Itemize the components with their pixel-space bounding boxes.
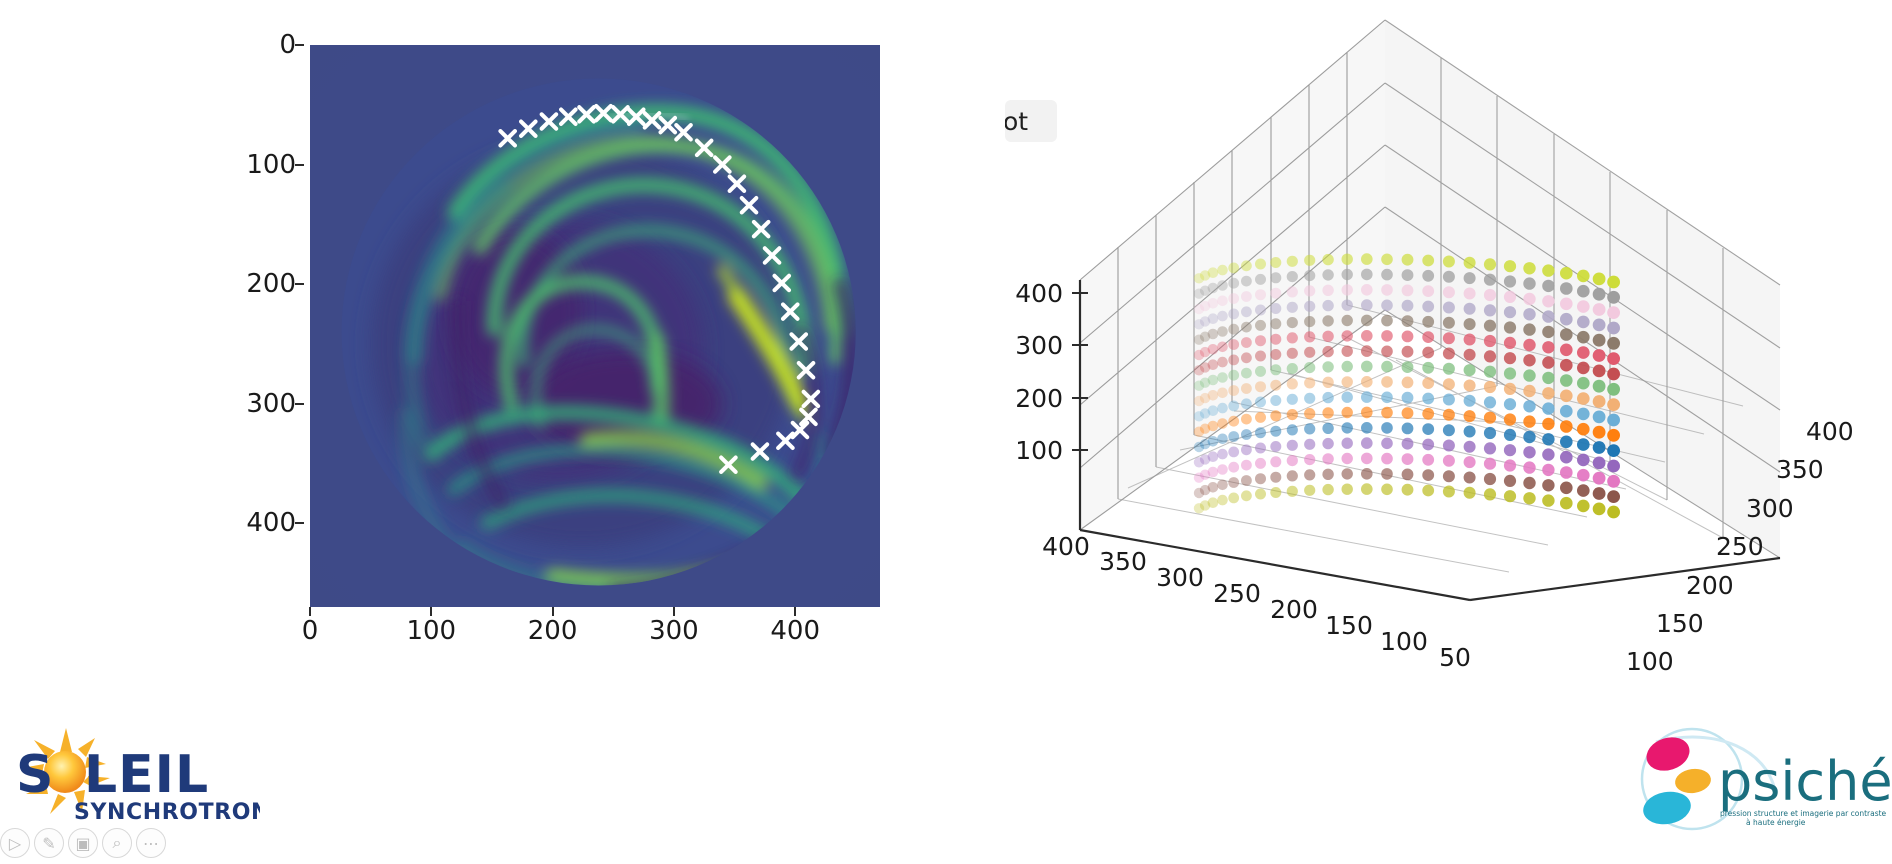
- scatter-point: [1607, 429, 1620, 442]
- scatter-point: [1523, 262, 1535, 274]
- scatter-point: [1577, 300, 1590, 313]
- scatter-point: [1255, 381, 1266, 392]
- scatter-point: [1228, 324, 1239, 335]
- scatter-point: [1523, 446, 1535, 458]
- scatter-point: [1560, 298, 1573, 311]
- z-tick-label-200: 200: [1015, 384, 1063, 413]
- scatter-point: [1484, 274, 1496, 286]
- x-tick-label-400: 400: [750, 616, 840, 646]
- scatter-point: [1542, 387, 1554, 399]
- scatter-point: [1577, 316, 1590, 329]
- scatter-point: [1593, 319, 1606, 332]
- scatter-point: [1255, 320, 1266, 331]
- y-tickmark: [295, 403, 304, 405]
- scatter-point: [1577, 346, 1590, 359]
- scatter-point: [1422, 255, 1434, 267]
- scatter-point: [1381, 346, 1393, 358]
- scatter-point: [1523, 323, 1535, 335]
- scatter-point: [1241, 291, 1252, 302]
- scatter-point: [1577, 454, 1590, 467]
- scatter-point: [1322, 269, 1333, 280]
- scatter-point: [1270, 472, 1281, 483]
- tomographic-slice-image: [310, 45, 880, 607]
- scatter-point: [1443, 363, 1455, 375]
- scatter-point: [1542, 326, 1554, 338]
- y3d-tick-label-300: 300: [1746, 494, 1794, 523]
- scatter-point: [1255, 458, 1266, 469]
- scatter-point: [1464, 334, 1476, 346]
- search-icon[interactable]: ⌕: [102, 828, 132, 858]
- scatter-point: [1523, 400, 1535, 412]
- scatter-point: [1607, 414, 1620, 427]
- scatter-point: [1577, 331, 1590, 344]
- scatter-point: [1560, 482, 1573, 495]
- scatter-point: [1504, 475, 1516, 487]
- scatter-point: [1542, 479, 1554, 491]
- scatter-point: [1607, 444, 1620, 457]
- scatter-point: [1322, 392, 1333, 403]
- scatter-point: [1342, 376, 1353, 387]
- scatter-point: [1287, 455, 1298, 466]
- scatter-point: [1443, 409, 1455, 421]
- z-tick-label-300: 300: [1015, 331, 1063, 360]
- soleil-subtitle: SYNCHROTRON: [74, 800, 260, 825]
- scatter-point: [1217, 449, 1228, 460]
- scatter-point: [1342, 346, 1353, 357]
- scatter-point: [1361, 422, 1373, 434]
- y-tick-label-100: 100: [206, 150, 296, 180]
- scatter-point: [1523, 369, 1535, 381]
- scatter-point: [1523, 277, 1535, 289]
- scatter-point: [1577, 500, 1590, 513]
- scatter-point: [1255, 397, 1266, 408]
- scatter-point: [1217, 388, 1228, 399]
- scatter-point: [1361, 253, 1373, 265]
- scatter-point: [1443, 256, 1455, 268]
- scatter-point: [1228, 477, 1239, 488]
- psiche-tagline-line2: à haute énergie: [1746, 818, 1806, 827]
- scatter-point: [1523, 415, 1535, 427]
- scatter-point: [1593, 457, 1606, 470]
- scatter-point: [1523, 477, 1535, 489]
- scatter-point: [1484, 396, 1496, 408]
- scatter-point: [1208, 344, 1219, 355]
- psiche-cyan-blob-icon: [1641, 788, 1694, 828]
- y3d-tick-label-350: 350: [1776, 455, 1824, 484]
- scatter-point: [1484, 335, 1496, 347]
- y-tick-label-400: 400: [206, 508, 296, 538]
- scatter-point: [1304, 439, 1315, 450]
- scatter-point: [1217, 418, 1228, 429]
- scatter-point: [1607, 475, 1620, 488]
- scatter-point: [1542, 448, 1554, 460]
- scatter-point: [1484, 304, 1496, 316]
- scatter-point: [1322, 315, 1333, 326]
- scatter-point: [1208, 298, 1219, 309]
- scatter-point: [1422, 347, 1434, 359]
- scatter-point: [1464, 456, 1476, 468]
- scatter-point: [1484, 442, 1496, 454]
- scatter-point: [1208, 421, 1219, 432]
- scatter-point: [1464, 487, 1476, 499]
- scatter-point: [1381, 438, 1393, 450]
- scatter-point: [1217, 311, 1228, 322]
- scatter-point: [1361, 468, 1373, 480]
- scatter-point: [1542, 433, 1554, 445]
- scatter-point: [1422, 270, 1434, 282]
- scatter-point: [1443, 486, 1455, 498]
- scatter-point: [1577, 423, 1590, 436]
- scatter-point: [1484, 366, 1496, 378]
- scatter-point: [1607, 368, 1620, 381]
- scatter-point: [1560, 497, 1573, 510]
- scatter-point: [1443, 394, 1455, 406]
- scatter-point: [1577, 484, 1590, 497]
- y-tickmark: [295, 44, 304, 46]
- scatter-point: [1504, 429, 1516, 441]
- scatter-point: [1504, 398, 1516, 410]
- play-icon[interactable]: ▷: [0, 828, 30, 858]
- scatter-point: [1484, 488, 1496, 500]
- scatter-point: [1322, 484, 1333, 495]
- scatter-point: [1255, 412, 1266, 423]
- scatter-point: [1255, 289, 1266, 300]
- scatter-point: [1464, 472, 1476, 484]
- y-tick-label-0: 0: [206, 30, 296, 60]
- scatter-point: [1255, 351, 1266, 362]
- scatter-point: [1484, 412, 1496, 424]
- scatter-point: [1402, 300, 1414, 312]
- scatter-point: [1560, 436, 1573, 449]
- scatter-point: [1270, 426, 1281, 437]
- scatter-point: [1422, 301, 1434, 313]
- scatter-point: [1208, 497, 1219, 508]
- scatter-point: [1607, 291, 1620, 304]
- scatter-point: [1422, 408, 1434, 420]
- scatter-point: [1464, 349, 1476, 361]
- scatter-point: [1217, 357, 1228, 368]
- scatter-point: [1381, 269, 1393, 281]
- scatter-point: [1304, 347, 1315, 358]
- scatter-point: [1443, 302, 1455, 314]
- x-tick-label-100: 100: [386, 616, 476, 646]
- scatter-point: [1402, 469, 1414, 481]
- scatter-point: [1607, 490, 1620, 503]
- scatter-point: [1381, 254, 1393, 266]
- soleil-wordmark: LEIL: [84, 745, 209, 805]
- x3d-tick-label-250: 250: [1213, 579, 1261, 608]
- scatter-point: [1577, 438, 1590, 451]
- scatter-point: [1241, 414, 1252, 425]
- scatter-point: [1361, 483, 1373, 495]
- scatter-point: [1342, 315, 1353, 326]
- psiche-logo-svg: psiché pression structure et imagerie pa…: [1620, 724, 1890, 834]
- scatter-point: [1422, 331, 1434, 343]
- scatter-point: [1208, 390, 1219, 401]
- scatter-point: [1322, 453, 1333, 464]
- scatter-point: [1287, 286, 1298, 297]
- scatter-point: [1287, 363, 1298, 374]
- scatter-point: [1504, 490, 1516, 502]
- scatter-point: [1287, 332, 1298, 343]
- scatter-point: [1217, 372, 1228, 383]
- scatter-point: [1593, 334, 1606, 347]
- scatter-point: [1422, 393, 1434, 405]
- scatter-point: [1228, 416, 1239, 427]
- floating-mini-toolbar[interactable]: ▷ ✎ ▣ ⌕ ⋯: [0, 828, 166, 858]
- scatter-point: [1287, 470, 1298, 481]
- scatter-point: [1422, 454, 1434, 466]
- scatter-point: [1255, 473, 1266, 484]
- x3d-tick-label-50: 50: [1439, 643, 1471, 672]
- scatter-point: [1443, 455, 1455, 467]
- scatter-point: [1504, 413, 1516, 425]
- scatter-point: [1542, 280, 1554, 292]
- scatter-point: [1381, 392, 1393, 404]
- scatter-point: [1464, 303, 1476, 315]
- scatter-point: [1208, 467, 1219, 478]
- scatter-point: [1228, 309, 1239, 320]
- scatter-point: [1241, 398, 1252, 409]
- x-tick-label-0: 0: [265, 616, 355, 646]
- scatter-point: [1342, 361, 1353, 372]
- scatter-point: [1228, 278, 1239, 289]
- play-glyph: ▷: [9, 834, 21, 853]
- scatter-point: [1607, 322, 1620, 335]
- scatter-point: [1577, 362, 1590, 375]
- scatter-point: [1217, 434, 1228, 445]
- scatter-point: [1228, 293, 1239, 304]
- y-tickmark: [295, 164, 304, 166]
- scatter-point: [1287, 302, 1298, 313]
- scatter-point: [1287, 378, 1298, 389]
- scatter-point: [1577, 392, 1590, 405]
- scatter-point: [1255, 443, 1266, 454]
- scatter-point: [1542, 418, 1554, 430]
- scatter-point: [1607, 276, 1620, 289]
- scatter-point: [1287, 486, 1298, 497]
- scatter-point: [1208, 329, 1219, 340]
- scatter-point: [1217, 464, 1228, 475]
- x-tickmark: [309, 607, 311, 616]
- scatter-point: [1208, 359, 1219, 370]
- scatter-point: [1484, 458, 1496, 470]
- scatter-point: [1593, 441, 1606, 454]
- scatter-point: [1560, 390, 1573, 403]
- left-figure-imshow: 0 100 200 300 400 0 100 200 300 400: [270, 20, 890, 630]
- scatter-point: [1270, 410, 1281, 421]
- scatter-point: [1208, 451, 1219, 462]
- scatter-point: [1464, 426, 1476, 438]
- scatter-point: [1593, 411, 1606, 424]
- scatter-point: [1443, 348, 1455, 360]
- scatter-point: [1304, 270, 1315, 281]
- scatter-point: [1287, 409, 1298, 420]
- scatter-point: [1542, 341, 1554, 353]
- scatter-point: [1228, 447, 1239, 458]
- scatter-point: [1504, 306, 1516, 318]
- scatter-point: [1523, 461, 1535, 473]
- scatter-point: [1217, 495, 1228, 506]
- scatter-point: [1287, 440, 1298, 451]
- scatter-point: [1443, 317, 1455, 329]
- more-icon[interactable]: ⋯: [136, 828, 166, 858]
- scatter-point: [1542, 402, 1554, 414]
- scatter-point: [1241, 429, 1252, 440]
- scatter-point: [1381, 468, 1393, 480]
- scatter-point: [1422, 439, 1434, 451]
- scatter-point: [1322, 407, 1333, 418]
- scatter-point: [1241, 260, 1252, 271]
- scatter-point: [1577, 408, 1590, 421]
- x3d-tick-label-150: 150: [1325, 611, 1373, 640]
- scatter-point: [1381, 453, 1393, 465]
- scatter-point: [1270, 456, 1281, 467]
- scatter-point: [1484, 427, 1496, 439]
- scatter-point: [1504, 367, 1516, 379]
- scatter-point: [1361, 453, 1373, 465]
- scatter-point: [1484, 381, 1496, 393]
- scatter-point: [1342, 269, 1353, 280]
- scatter-point: [1593, 503, 1606, 516]
- scatter-point: [1560, 282, 1573, 295]
- scatter-point: [1464, 441, 1476, 453]
- scatter-point: [1304, 301, 1315, 312]
- scatter-point: [1593, 288, 1606, 301]
- scatter-point: [1402, 453, 1414, 465]
- scatter-point: [1443, 332, 1455, 344]
- scatter-point: [1607, 460, 1620, 473]
- scatter-point: [1523, 293, 1535, 305]
- scatter-point: [1241, 444, 1252, 455]
- soleil-logo-svg: S LEIL SYNCHROTRON: [10, 724, 260, 834]
- scatter-point: [1504, 260, 1516, 272]
- scatter-point: [1560, 359, 1573, 372]
- scatter-point: [1402, 285, 1414, 297]
- scatter-point: [1381, 407, 1393, 419]
- scatter-point: [1484, 473, 1496, 485]
- scatter-point: [1304, 454, 1315, 465]
- scatter-point: [1402, 361, 1414, 373]
- scatter-point: [1504, 383, 1516, 395]
- y3d-tick-label-150: 150: [1656, 609, 1704, 638]
- scatter-point: [1241, 368, 1252, 379]
- scatter-point: [1361, 376, 1373, 388]
- scatter-point: [1542, 310, 1554, 322]
- scatter-point: [1304, 285, 1315, 296]
- scatter-point: [1228, 493, 1239, 504]
- scatter-point: [1322, 300, 1333, 311]
- scatter-point: [1607, 506, 1620, 519]
- crop-icon[interactable]: ▣: [68, 828, 98, 858]
- scatter-point: [1361, 391, 1373, 403]
- scatter-point: [1593, 426, 1606, 439]
- x3d-tick-label-100: 100: [1380, 627, 1428, 656]
- scatter-point: [1422, 377, 1434, 389]
- psiche-logo: psiché pression structure et imagerie pa…: [1620, 724, 1890, 834]
- scatter-point: [1402, 315, 1414, 327]
- scatter-point: [1443, 470, 1455, 482]
- scatter-point: [1402, 254, 1414, 266]
- scatter-point: [1270, 334, 1281, 345]
- scatter-point: [1542, 494, 1554, 506]
- scatter-point: [1241, 276, 1252, 287]
- scatter-point: [1542, 295, 1554, 307]
- scatter-point: [1361, 407, 1373, 419]
- scatter-point: [1560, 328, 1573, 341]
- scatter-point: [1270, 272, 1281, 283]
- scatter-point: [1593, 273, 1606, 286]
- pen-icon[interactable]: ✎: [34, 828, 64, 858]
- scatter-point: [1422, 316, 1434, 328]
- scatter-point: [1228, 431, 1239, 442]
- scatter-point: [1443, 286, 1455, 298]
- scatter-point: [1607, 352, 1620, 365]
- scatter-point: [1270, 257, 1281, 268]
- scatter-point: [1542, 356, 1554, 368]
- scatter-point: [1342, 468, 1353, 479]
- z-tick-label-100: 100: [1015, 436, 1063, 465]
- scatter-point: [1241, 490, 1252, 501]
- scatter-point: [1484, 320, 1496, 332]
- scatter-point: [1484, 258, 1496, 270]
- scatter-point: [1255, 274, 1266, 285]
- scatter-point: [1342, 392, 1353, 403]
- scatter-point: [1287, 394, 1298, 405]
- scatter-point: [1361, 269, 1373, 281]
- x-tickmark: [673, 607, 675, 616]
- scatter-point: [1542, 264, 1554, 276]
- psiche-yellow-blob-icon: [1674, 767, 1713, 796]
- scatter-point: [1322, 285, 1333, 296]
- scatter-point: [1241, 337, 1252, 348]
- scatter-point: [1577, 377, 1590, 390]
- imshow-axes: [310, 45, 880, 607]
- scatter-point: [1402, 423, 1414, 435]
- scatter-point: [1217, 265, 1228, 276]
- psiche-tagline-line1: pression structure et imagerie par contr…: [1720, 809, 1887, 818]
- scatter-point: [1287, 256, 1298, 267]
- scatter-point: [1228, 355, 1239, 366]
- scatter-point: [1402, 407, 1414, 419]
- scatter-point: [1593, 365, 1606, 378]
- scatter-point: [1228, 339, 1239, 350]
- right-figure-3d-scatter: 400 300 200 100 400 350 300 250 200 150 …: [1000, 10, 1860, 700]
- x3d-tick-label-200: 200: [1270, 595, 1318, 624]
- scatter-point: [1381, 376, 1393, 388]
- y-tickmark: [295, 283, 304, 285]
- scatter-point: [1607, 337, 1620, 350]
- scatter-point: [1228, 462, 1239, 473]
- scatter-point: [1322, 438, 1333, 449]
- scatter-point: [1342, 422, 1353, 433]
- scatter-point: [1381, 361, 1393, 373]
- scatter-point: [1504, 321, 1516, 333]
- scatter-point: [1593, 472, 1606, 485]
- scatter-point: [1255, 427, 1266, 438]
- scatter-point: [1504, 444, 1516, 456]
- scatter-point: [1464, 380, 1476, 392]
- scatter-point: [1304, 469, 1315, 480]
- scatter-point: [1560, 405, 1573, 418]
- scatter-point: [1217, 403, 1228, 414]
- scatter-point: [1402, 392, 1414, 404]
- scatter-point: [1270, 288, 1281, 299]
- y-tickmark: [295, 522, 304, 524]
- scatter-point: [1523, 431, 1535, 443]
- x3d-tick-label-350: 350: [1099, 547, 1147, 576]
- scatter-point: [1560, 313, 1573, 326]
